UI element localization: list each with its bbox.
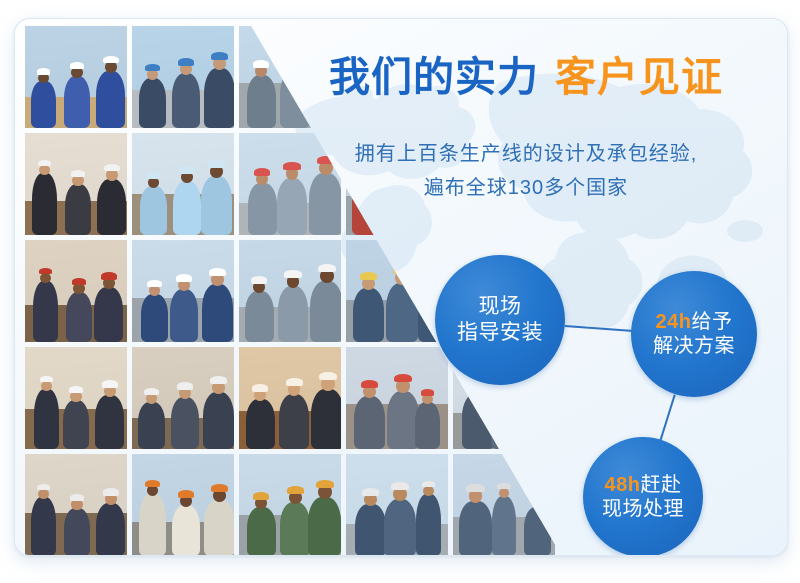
photo-person <box>171 397 200 449</box>
photo-person <box>64 76 91 128</box>
photo-person-head <box>41 381 51 391</box>
photo-helmet-team-at-jobsite <box>132 240 234 342</box>
bubble-2-line-1-text: 给予 <box>691 311 732 333</box>
photo-person <box>139 494 166 556</box>
photo-person-helmet <box>103 56 119 63</box>
photo-person-helmet <box>210 376 227 384</box>
photo-person-helmet <box>147 280 162 287</box>
photo-person <box>32 173 56 235</box>
card-content: 我们的实力客户见证 拥有上百条生产线的设计及承包经验, 遍布全球130多个国家 … <box>265 19 787 555</box>
photo-person-helmet <box>101 272 117 279</box>
photo-person-helmet <box>37 68 51 74</box>
photo-person <box>96 71 125 128</box>
photo-person-head <box>38 489 48 499</box>
photo-award-presentation-handshake <box>25 347 127 449</box>
photo-person <box>201 176 232 235</box>
photo-person <box>94 287 123 342</box>
photo-person <box>172 73 201 128</box>
photo-person-helmet <box>102 380 118 387</box>
page-root: 我们的实力客户见证 拥有上百条生产线的设计及承包经验, 遍布全球130多个国家 … <box>0 0 800 583</box>
photo-person-helmet <box>145 64 160 71</box>
bubble-3-highlight: 48h <box>605 474 641 496</box>
connector-line-1 <box>565 325 631 331</box>
photo-person-helmet <box>37 484 51 490</box>
photo-person <box>31 81 55 128</box>
photo-person <box>138 402 165 449</box>
photo-person-helmet <box>38 160 52 166</box>
photo-person-head <box>39 165 49 175</box>
photo-person-helmet <box>70 494 85 501</box>
photo-person-helmet <box>178 58 194 65</box>
photo-person <box>139 78 166 128</box>
photo-person-helmet <box>39 268 53 274</box>
bubble-2-line-1: 24h给予 <box>656 310 733 334</box>
photo-person <box>204 68 234 128</box>
photo-clients-outside-workshop <box>132 133 234 235</box>
photo-engineers-at-mining-site <box>25 26 127 128</box>
bubble-2-highlight: 24h <box>656 311 692 333</box>
photo-conference-room-meeting <box>25 240 127 342</box>
photo-person <box>173 181 202 235</box>
photo-person <box>202 284 233 342</box>
photo-person <box>66 292 93 342</box>
photo-person-helmet <box>103 488 119 495</box>
photo-person <box>204 500 234 556</box>
service-bubble-diagram: 现场 指导安装 24h给予 解决方案 48h赶赴 现场处理 <box>265 19 787 555</box>
photo-person-helmet <box>72 278 87 285</box>
photo-handshake-in-office <box>25 133 127 235</box>
bubble-3-line-1-text: 赶赴 <box>640 474 681 496</box>
photo-person-helmet <box>177 382 193 389</box>
bubble-1-line-2: 指导安装 <box>457 320 543 346</box>
photo-person <box>203 392 234 449</box>
photo-person-helmet <box>70 62 85 69</box>
photo-person <box>64 508 91 556</box>
photo-person-helmet <box>208 160 225 168</box>
photo-person <box>140 186 167 235</box>
bubble-onsite-installation[interactable]: 现场 指导安装 <box>435 255 565 385</box>
photo-person <box>96 503 125 556</box>
photo-person-helmet <box>211 484 228 492</box>
photo-person-helmet <box>145 480 160 487</box>
photo-person-helmet <box>104 164 120 171</box>
photo-person-helmet <box>209 268 226 276</box>
photo-person <box>33 281 57 342</box>
photo-person-helmet <box>178 490 194 497</box>
photo-person <box>34 389 58 449</box>
strength-showcase-card: 我们的实力客户见证 拥有上百条生产线的设计及承包经验, 遍布全球130多个国家 … <box>14 18 788 556</box>
photo-person-helmet <box>69 386 84 393</box>
photo-trade-show-booth-visit <box>132 347 234 449</box>
bubble-24h-solution[interactable]: 24h给予 解决方案 <box>631 271 757 397</box>
photo-person <box>97 179 126 235</box>
photo-person-helmet <box>40 376 54 382</box>
photo-workshop-training-session <box>132 454 234 556</box>
photo-person-helmet <box>144 388 159 395</box>
bubble-3-line-2: 现场处理 <box>602 497 684 521</box>
photo-person <box>95 395 124 449</box>
connector-line-2 <box>660 395 676 441</box>
bubble-48h-onsite[interactable]: 48h赶赴 现场处理 <box>583 437 703 556</box>
photo-person-helmet <box>176 274 192 281</box>
photo-person-head <box>40 273 50 283</box>
photo-person-helmet <box>211 52 228 60</box>
photo-person <box>172 505 201 556</box>
photo-person-helmet <box>71 170 86 177</box>
bubble-1-line-1: 现场 <box>479 294 522 320</box>
photo-person-helmet <box>146 172 161 179</box>
photo-office-desk-consultation <box>25 454 127 556</box>
bubble-2-line-2: 解决方案 <box>653 334 735 358</box>
photo-person <box>170 289 199 342</box>
photo-person <box>63 400 90 449</box>
photo-person <box>65 184 92 235</box>
bubble-3-line-1: 48h赶赴 <box>605 473 682 497</box>
photo-person <box>31 497 55 556</box>
photo-person-helmet <box>179 166 195 173</box>
photo-person <box>141 294 168 342</box>
photo-workers-group-at-plant <box>132 26 234 128</box>
